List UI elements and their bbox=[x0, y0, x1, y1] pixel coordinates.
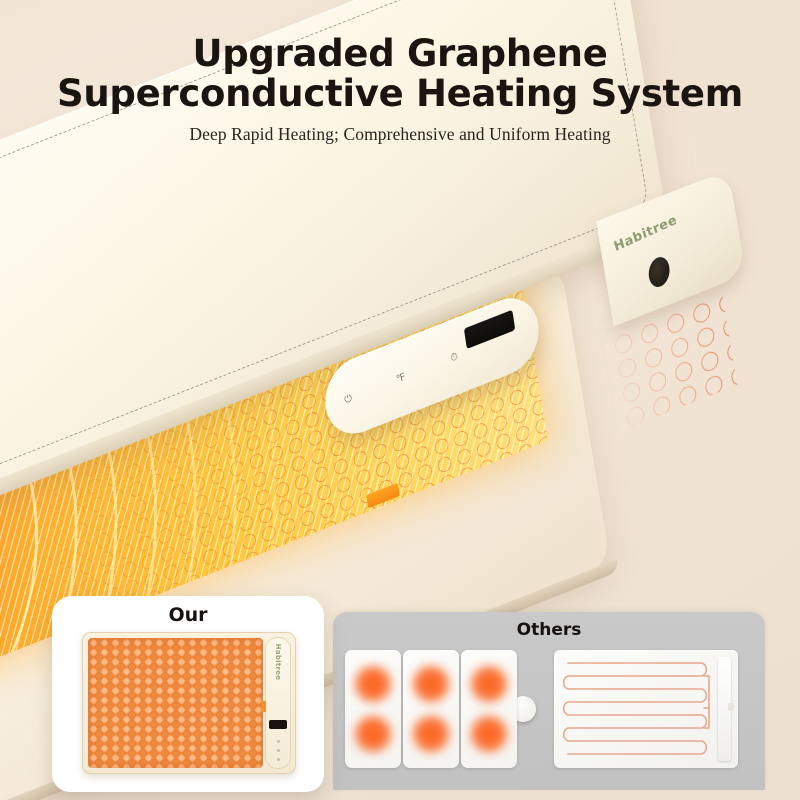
control-dot bbox=[277, 740, 280, 743]
our-brand-label: Habitree bbox=[274, 644, 282, 681]
hotspot-panel bbox=[403, 650, 459, 768]
brand-logo-text: Habitree bbox=[612, 212, 679, 255]
our-comparison-card: Our Habitree bbox=[52, 596, 324, 792]
hotspot-heating-illustration bbox=[345, 650, 536, 768]
our-control-dots bbox=[265, 740, 291, 761]
our-honeycomb-surface bbox=[88, 638, 263, 768]
hotspot bbox=[353, 664, 393, 704]
others-illustrations bbox=[345, 648, 753, 770]
control-dot bbox=[277, 749, 280, 752]
power-icon[interactable]: ⏻ bbox=[343, 394, 353, 407]
hotspot bbox=[469, 664, 509, 704]
others-title: Others bbox=[333, 620, 765, 640]
hotspot-panel-group bbox=[345, 650, 517, 768]
our-connector-tab bbox=[261, 701, 266, 712]
honeycomb-mesh-patch-right bbox=[582, 292, 737, 440]
hotspot bbox=[469, 714, 509, 754]
wire-controller-strip bbox=[718, 657, 731, 761]
led-display bbox=[464, 310, 515, 349]
our-led-display bbox=[269, 720, 287, 729]
hotspot bbox=[411, 714, 451, 754]
temperature-icon[interactable]: ℉ bbox=[396, 372, 407, 385]
our-mat-illustration: Habitree bbox=[82, 632, 296, 774]
control-dot bbox=[277, 758, 280, 761]
hotspot-panel bbox=[345, 650, 401, 768]
our-title: Our bbox=[52, 604, 324, 626]
timer-icon[interactable]: ⏱ bbox=[450, 352, 460, 365]
others-comparison-panel: Others bbox=[333, 612, 765, 790]
serpentine-wire-diagram bbox=[554, 650, 738, 768]
power-port-icon bbox=[649, 255, 670, 289]
serpentine-wire-illustration bbox=[554, 650, 738, 768]
our-side-controller: Habitree bbox=[265, 637, 291, 769]
product-marketing-image: Upgraded Graphene Superconductive Heatin… bbox=[0, 0, 800, 800]
hotspot-panel bbox=[461, 650, 517, 768]
hotspot bbox=[353, 714, 393, 754]
hotspot bbox=[411, 664, 451, 704]
